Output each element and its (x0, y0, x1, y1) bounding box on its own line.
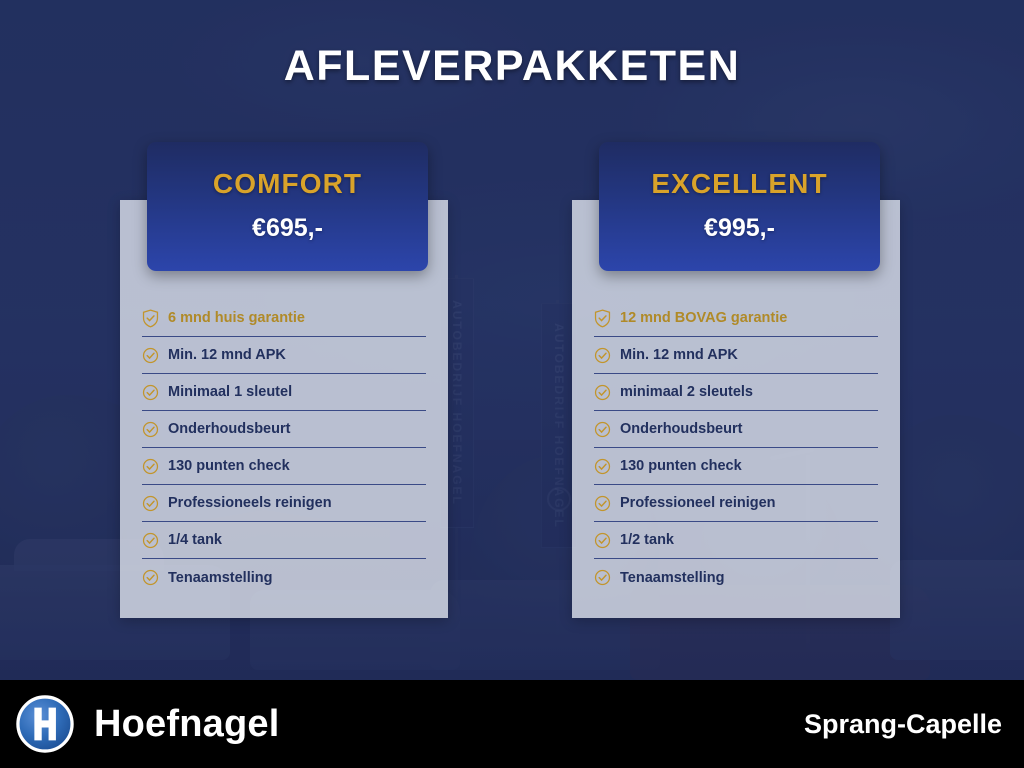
circle-check-icon (594, 568, 611, 587)
feature-list: 12 mnd BOVAG garantie Min. 12 mnd APK mi… (572, 300, 900, 596)
circle-check-icon (142, 346, 159, 365)
slide-stage: AUTOBEDRIJF HOEFNAGEL AUTOBEDRIJF HOEFNA… (0, 0, 1024, 768)
feature-row: Tenaamstelling (142, 559, 426, 596)
circle-check-icon (142, 494, 159, 513)
hoefnagel-logo-icon (16, 695, 74, 753)
package-name: COMFORT (147, 168, 428, 200)
feature-label: Professioneel reinigen (620, 495, 776, 511)
brand-block: Hoefnagel (0, 695, 280, 753)
brand-name: Hoefnagel (94, 703, 280, 746)
feature-row: 12 mnd BOVAG garantie (594, 300, 878, 337)
feature-row: Minimaal 1 sleutel (142, 374, 426, 411)
circle-check-icon (594, 346, 611, 365)
feature-row: Onderhoudsbeurt (142, 411, 426, 448)
feature-label: 1/4 tank (168, 532, 222, 548)
circle-check-icon (594, 531, 611, 550)
footer-location: Sprang-Capelle (804, 709, 1024, 740)
feature-label: Min. 12 mnd APK (168, 347, 286, 363)
feature-row: Min. 12 mnd APK (594, 337, 878, 374)
circle-check-icon (594, 457, 611, 476)
feature-label: Onderhoudsbeurt (168, 421, 290, 437)
feature-label: 12 mnd BOVAG garantie (620, 310, 787, 326)
circle-check-icon (142, 531, 159, 550)
circle-check-icon (594, 420, 611, 439)
feature-label: Minimaal 1 sleutel (168, 384, 292, 400)
circle-check-icon (142, 383, 159, 402)
feature-row: 1/2 tank (594, 522, 878, 559)
shield-check-icon (594, 309, 611, 328)
feature-row: Professioneels reinigen (142, 485, 426, 522)
feature-row: 130 punten check (594, 448, 878, 485)
feature-row: 1/4 tank (142, 522, 426, 559)
feature-row: Onderhoudsbeurt (594, 411, 878, 448)
feature-label: 1/2 tank (620, 532, 674, 548)
feature-label: Tenaamstelling (168, 570, 272, 586)
feature-row: 6 mnd huis garantie (142, 300, 426, 337)
feature-label: Min. 12 mnd APK (620, 347, 738, 363)
feature-label: minimaal 2 sleutels (620, 384, 753, 400)
feature-label: 6 mnd huis garantie (168, 310, 305, 326)
feature-label: Tenaamstelling (620, 570, 724, 586)
package-name: EXCELLENT (599, 168, 880, 200)
package-price: €995,- (599, 214, 880, 243)
circle-check-icon (142, 457, 159, 476)
feature-label: Professioneels reinigen (168, 495, 332, 511)
feature-row: Min. 12 mnd APK (142, 337, 426, 374)
circle-check-icon (594, 494, 611, 513)
footer-bar: Hoefnagel Sprang-Capelle (0, 680, 1024, 768)
feature-label: 130 punten check (168, 458, 290, 474)
feature-row: 130 punten check (142, 448, 426, 485)
circle-check-icon (594, 383, 611, 402)
feature-label: 130 punten check (620, 458, 742, 474)
circle-check-icon (142, 568, 159, 587)
package-price: €695,- (147, 214, 428, 243)
page-title: AFLEVERPAKKETEN (0, 42, 1024, 91)
shield-check-icon (142, 309, 159, 328)
feature-list: 6 mnd huis garantie Min. 12 mnd APK Mini… (120, 300, 448, 596)
feature-row: Professioneel reinigen (594, 485, 878, 522)
feature-label: Onderhoudsbeurt (620, 421, 742, 437)
circle-check-icon (142, 420, 159, 439)
feature-row: minimaal 2 sleutels (594, 374, 878, 411)
package-header-comfort: COMFORT €695,- (147, 142, 428, 271)
feature-row: Tenaamstelling (594, 559, 878, 596)
package-header-excellent: EXCELLENT €995,- (599, 142, 880, 271)
